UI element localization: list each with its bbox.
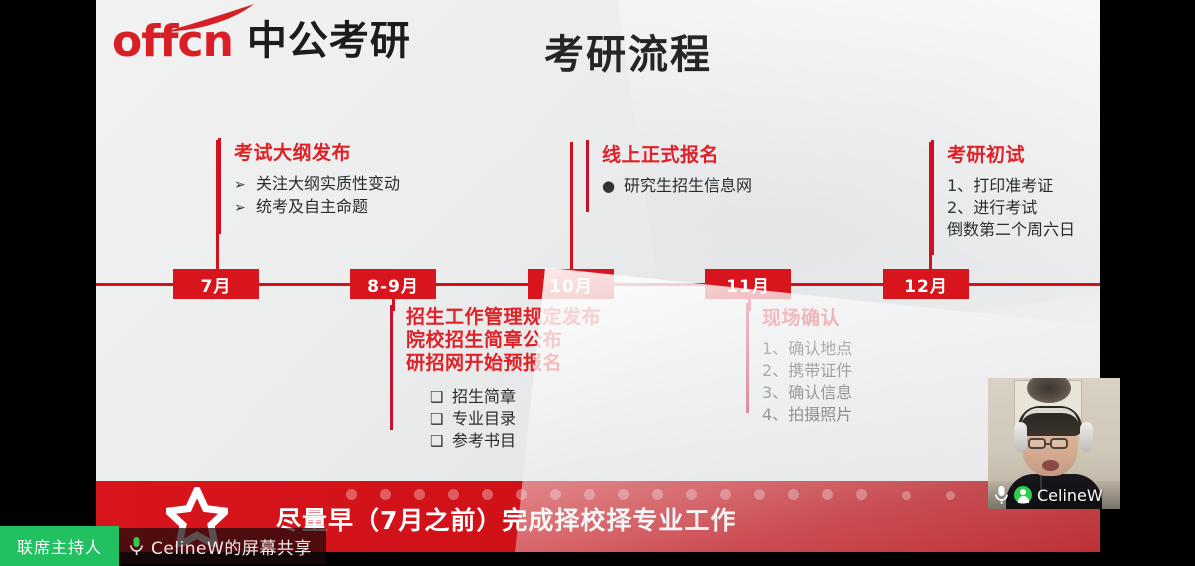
block-syllabus: 考试大纲发布 ➢ 关注大纲实质性变动 ➢ 统考及自主命题 — [218, 138, 400, 219]
list-item-text: 统考及自主命题 — [256, 196, 368, 218]
list-item-text: 参考书目 — [452, 430, 516, 452]
block-list-item: 4、 拍摄照片 — [762, 404, 852, 426]
timeline-connector — [929, 142, 932, 271]
arrow-bullet-icon: ➢ — [234, 174, 256, 196]
block-heading: 考试大纲发布 — [234, 138, 400, 165]
list-item-number: 2、 — [947, 197, 973, 219]
block-heading-line-2: 院校招生简章公布 — [406, 328, 601, 353]
block-accent-bar — [746, 303, 749, 413]
timeline-month-2[interactable]: 10月 — [528, 269, 614, 299]
checkbox-bullet-icon: ❑ — [430, 386, 452, 408]
slide-title: 考研流程 — [96, 22, 1100, 80]
eyeglass-lens-left — [1028, 438, 1046, 449]
block-enrollment: 招生工作管理规定发布 院校招生简章公布 研招网开始预报名 ❑ 招生简章 ❑ 专业… — [390, 305, 601, 452]
list-item-text: 确认信息 — [788, 382, 852, 404]
participant-name: CelineW — [1037, 486, 1103, 505]
list-item-number: 4、 — [762, 404, 788, 426]
headphone-band — [1022, 408, 1078, 424]
eyeglass-bridge — [1046, 443, 1052, 445]
block-list-item: 3、 确认信息 — [762, 382, 852, 404]
list-item-text: 关注大纲实质性变动 — [256, 173, 400, 195]
video-name-overlay: CelineW — [988, 481, 1120, 509]
list-item-text: 招生简章 — [452, 386, 516, 408]
list-item-number: 1、 — [762, 338, 788, 360]
list-item-text: 拍摄照片 — [788, 404, 852, 426]
list-item-number: 2、 — [762, 360, 788, 382]
block-heading: 现场确认 — [762, 303, 852, 330]
block-accent-bar — [586, 140, 589, 212]
block-onsite-confirm: 现场确认 1、 确认地点 2、 携带证件 3、 确认信息 4、 拍摄照片 — [746, 303, 852, 426]
block-first-exam: 考研初试 1、 打印准考证 2、 进行考试 倒数第二个周六日 — [931, 140, 1075, 241]
checkbox-bullet-icon: ❑ — [430, 408, 452, 430]
checkbox-bullet-icon: ❑ — [430, 430, 452, 452]
bottom-taskbar: 联席主持人 CelineW的屏幕共享 — [0, 526, 1195, 566]
block-list-item: ➢ 统考及自主命题 — [234, 196, 400, 219]
timeline-month-3[interactable]: 11月 — [705, 269, 791, 299]
arrow-bullet-icon: ➢ — [234, 197, 256, 219]
block-accent-bar — [390, 305, 393, 430]
host-role-badge: 联席主持人 — [0, 526, 119, 566]
screen-share-view: offcn 中公考研 考研流程 考试大纲发布 ➢ 关注大纲实质性变动 — [0, 0, 1195, 566]
block-list-item: 1、 打印准考证 — [947, 175, 1075, 197]
headphone-cup-left — [1014, 422, 1027, 452]
block-list-item: 2、 携带证件 — [762, 360, 852, 382]
block-list-item: ● 研究生招生信息网 — [602, 175, 752, 197]
block-list-item: ❑ 专业目录 — [406, 408, 601, 430]
timeline-month-1[interactable]: 8-9月 — [350, 269, 436, 299]
list-item-number: 3、 — [762, 382, 788, 404]
screen-share-status[interactable]: CelineW的屏幕共享 — [119, 528, 326, 564]
microphone-icon[interactable] — [129, 536, 144, 556]
list-item-text: 打印准考证 — [973, 175, 1053, 197]
list-item-text: 专业目录 — [452, 408, 516, 430]
timeline-connector — [216, 140, 219, 271]
participant-video-tile[interactable]: CelineW — [988, 378, 1120, 509]
block-heading-line-1: 招生工作管理规定发布 — [406, 305, 601, 330]
block-list-item: ❑ 招生简章 — [406, 386, 601, 408]
list-item-number: 1、 — [947, 175, 973, 197]
microphone-icon[interactable] — [994, 485, 1009, 505]
list-item-text: 进行考试 — [973, 197, 1037, 219]
block-list-item: ❑ 参考书目 — [406, 430, 601, 452]
timeline-connector — [570, 142, 573, 271]
screen-share-label: CelineW的屏幕共享 — [151, 534, 312, 559]
headphone-cup-right — [1080, 422, 1093, 452]
block-list-item: 2、 进行考试 — [947, 197, 1075, 219]
timeline-month-0[interactable]: 7月 — [173, 269, 259, 299]
person-mouth — [1042, 460, 1059, 471]
block-list-item: 1、 确认地点 — [762, 338, 852, 360]
disc-bullet-icon: ● — [602, 175, 624, 197]
eyeglass-lens-right — [1050, 438, 1068, 449]
wall-picture-art — [1027, 378, 1071, 403]
person-badge-icon — [1014, 486, 1032, 504]
block-list-item: ➢ 关注大纲实质性变动 — [234, 173, 400, 196]
list-item-text: 携带证件 — [788, 360, 852, 382]
timeline-month-4[interactable]: 12月 — [883, 269, 969, 299]
block-heading-line-3: 研招网开始预报名 — [406, 351, 601, 376]
block-list-item: 倒数第二个周六日 — [947, 219, 1075, 241]
list-item-text: 确认地点 — [788, 338, 852, 360]
list-item-text: 研究生招生信息网 — [624, 175, 752, 197]
block-online-register: 线上正式报名 ● 研究生招生信息网 — [586, 140, 752, 197]
presentation-slide: offcn 中公考研 考研流程 考试大纲发布 ➢ 关注大纲实质性变动 — [96, 0, 1100, 552]
block-heading: 线上正式报名 — [602, 140, 752, 167]
list-item-text: 倒数第二个周六日 — [947, 219, 1075, 241]
block-heading: 考研初试 — [947, 140, 1075, 167]
